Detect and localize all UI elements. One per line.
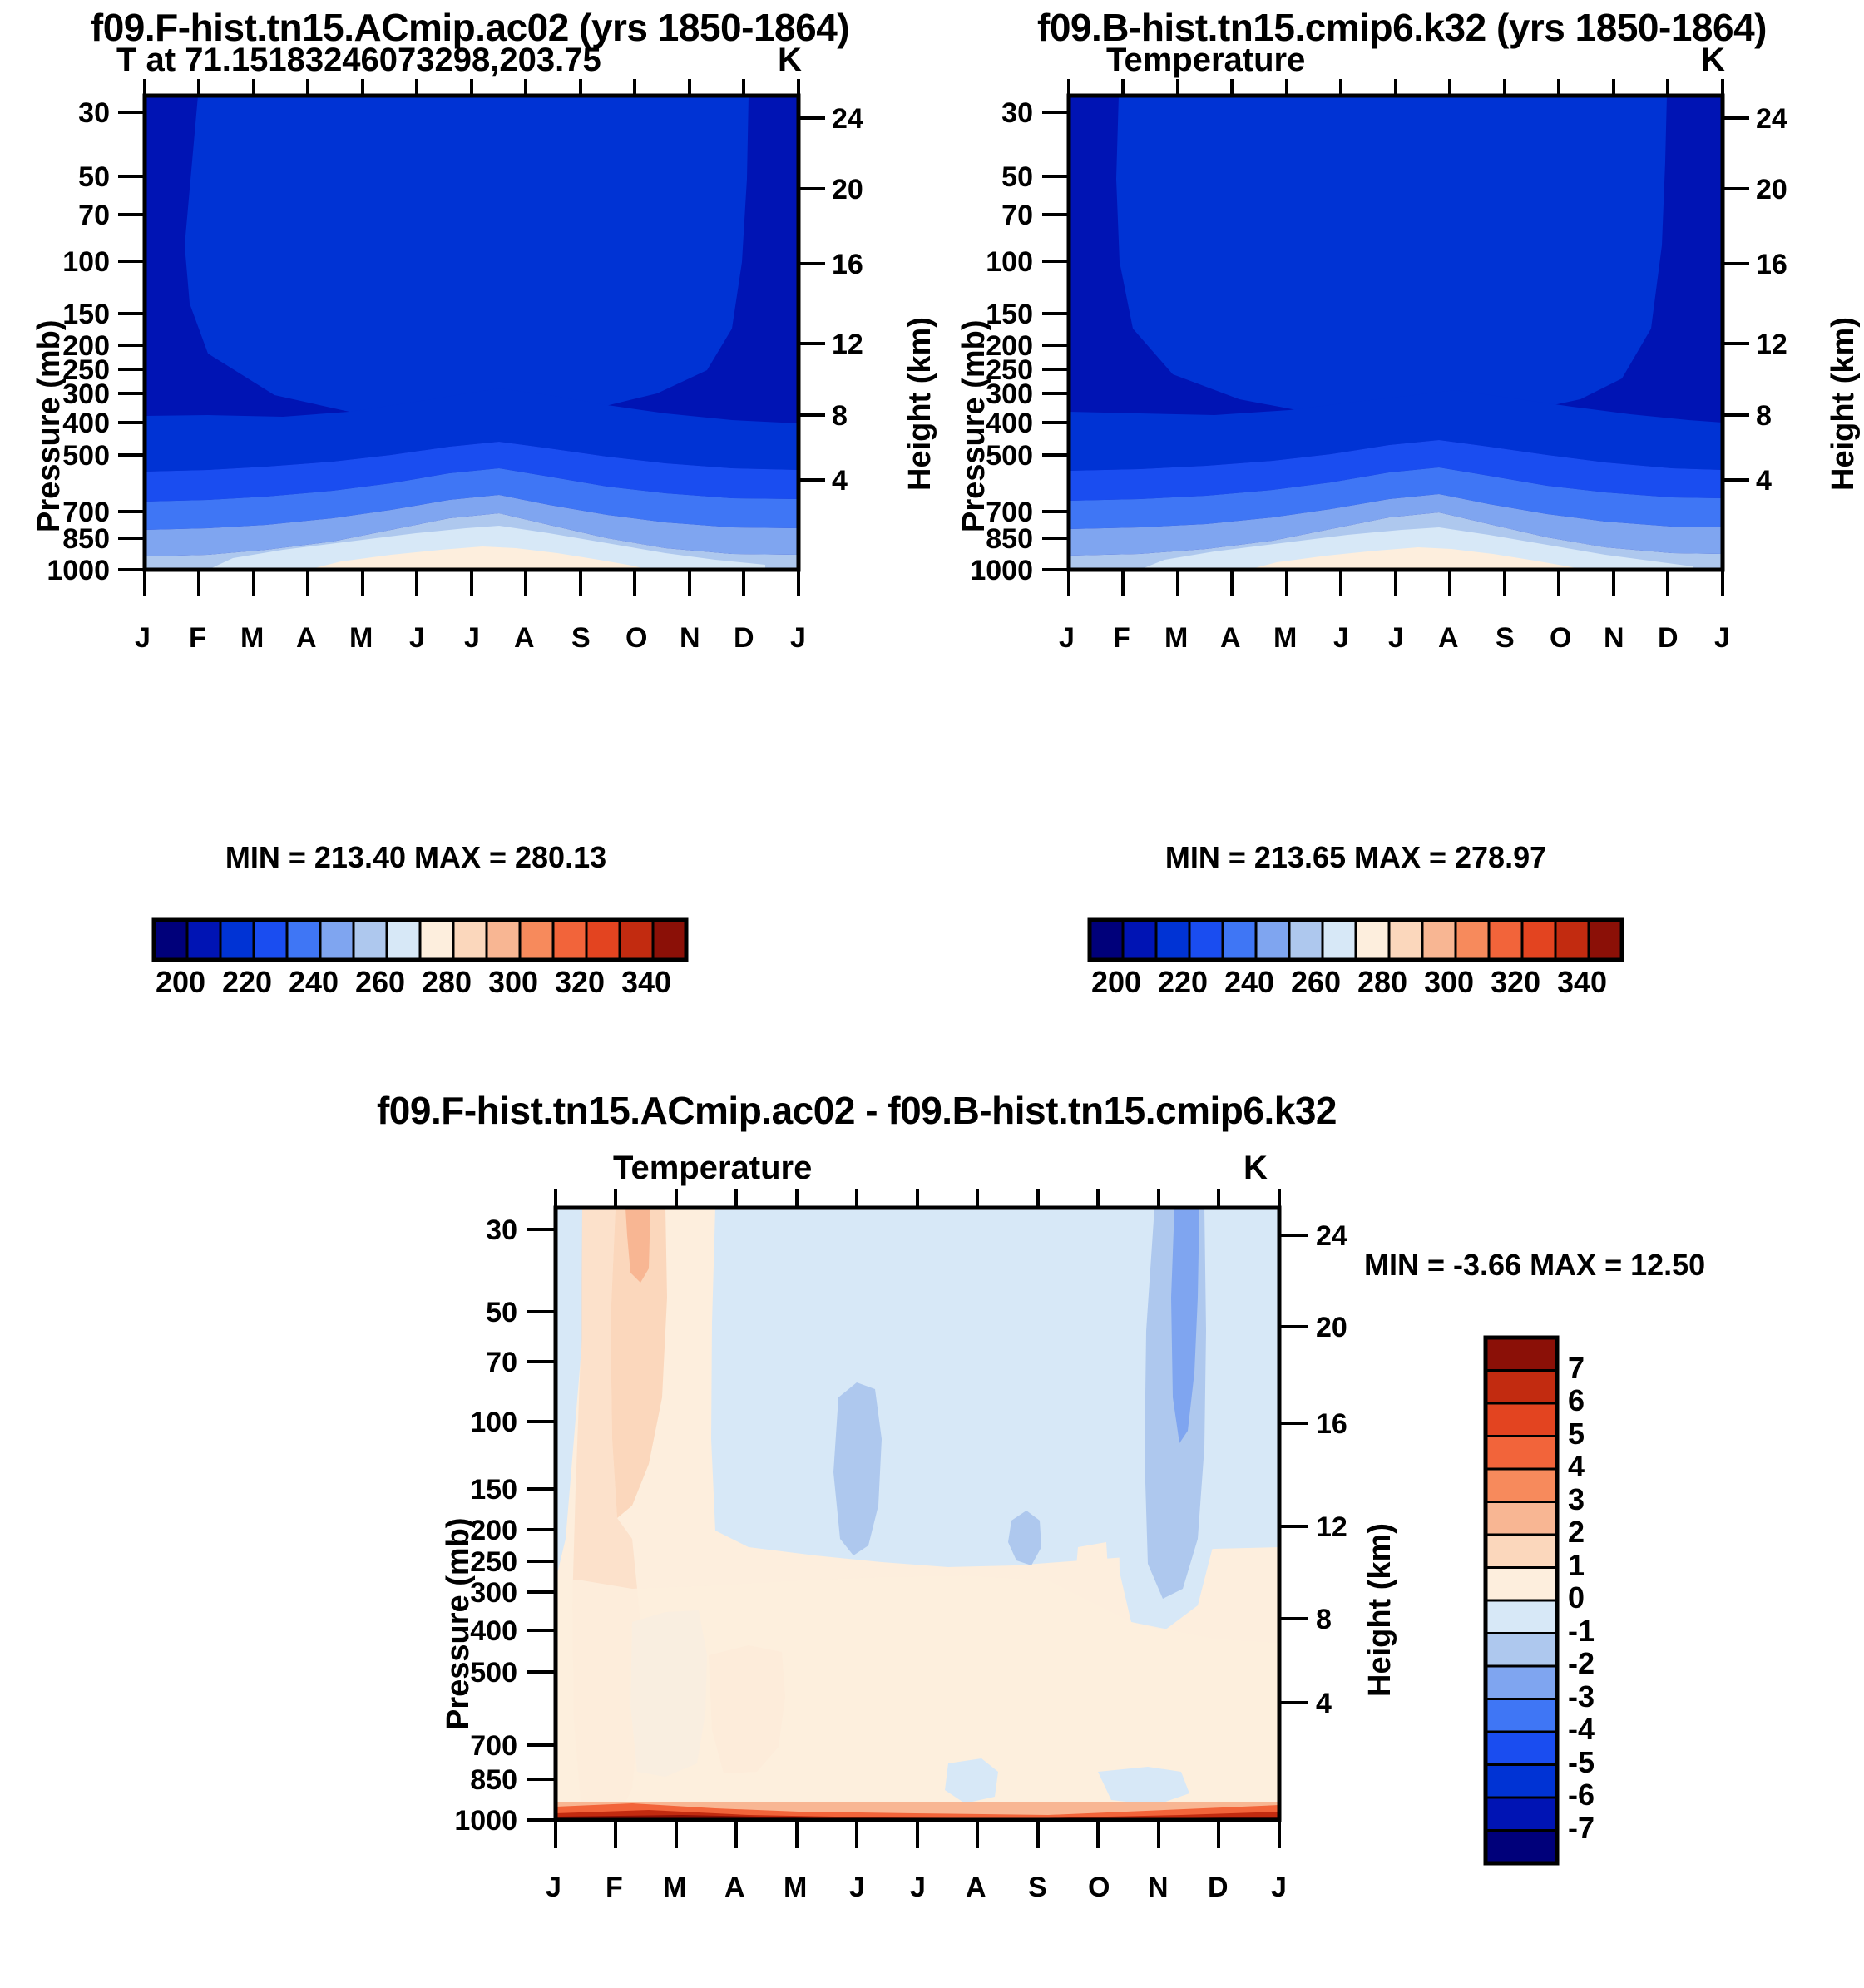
colorbar-segment [420, 920, 453, 960]
colorbar-tick-label: 280 [422, 965, 472, 1000]
y-axis-label-height-right: Height (km) [1826, 317, 1862, 491]
x-tick-label: J [1333, 622, 1349, 655]
x-tick-label: A [514, 622, 535, 655]
pressure-tick-label: 300 [470, 1577, 517, 1610]
pressure-tick-label: 50 [486, 1297, 517, 1329]
panel-left-minmax: MIN = 213.40 MAX = 280.13 [0, 840, 832, 875]
colorbar-segment [553, 920, 586, 960]
x-tick-label: J [910, 1872, 926, 1904]
x-tick-label: D [734, 622, 754, 655]
pressure-tick-label: 30 [486, 1214, 517, 1247]
pressure-tick-label: 150 [470, 1474, 517, 1506]
pressure-tick-label: 1000 [454, 1805, 517, 1837]
x-tick-label: N [1604, 622, 1624, 655]
colorbar-tick-label: -1 [1568, 1614, 1595, 1649]
panel-right-plot [940, 79, 1864, 878]
height-tick-label: 4 [1316, 1688, 1332, 1720]
colorbar-segment [653, 920, 686, 960]
colorbar-segment [1489, 920, 1522, 960]
x-tick-label: A [966, 1872, 986, 1904]
pressure-tick-label: 100 [986, 246, 1033, 279]
colorbar-segment [1486, 1831, 1557, 1864]
height-tick-label: 16 [1316, 1408, 1347, 1441]
x-tick-label: F [189, 622, 206, 655]
pressure-tick-label: 500 [62, 440, 110, 472]
colorbar-segment [354, 920, 387, 960]
pressure-tick-label: 100 [470, 1407, 517, 1439]
height-tick-label: 16 [1756, 249, 1787, 281]
colorbar-segment [1486, 1634, 1557, 1667]
x-tick-label: M [1273, 622, 1297, 655]
x-tick-label: M [1164, 622, 1188, 655]
height-tick-label: 16 [832, 249, 863, 281]
x-tick-label: A [1220, 622, 1241, 655]
pressure-tick-label: 50 [78, 161, 110, 194]
y-axis-label-pressure-right: Pressure (mb) [957, 319, 992, 532]
colorbar-segment [1323, 920, 1356, 960]
x-tick-label: J [1714, 622, 1730, 655]
colorbar-segment [1389, 920, 1422, 960]
x-tick-label: S [1028, 1872, 1047, 1904]
colorbar-tick-label: 200 [156, 965, 205, 1000]
colorbar-segment [1486, 1699, 1557, 1733]
pressure-tick-label: 30 [1001, 97, 1033, 130]
panel-left-subtitle: T at 71.15183246073298,203.75 [116, 42, 601, 79]
y-axis-label-height-diff: Height (km) [1362, 1523, 1398, 1697]
y-axis-label-height: Height (km) [902, 317, 938, 491]
panel-right-minmax: MIN = 213.65 MAX = 278.97 [940, 840, 1772, 875]
top-ticks-right [1069, 79, 1723, 96]
height-tick-label: 4 [832, 465, 848, 497]
colorbar-segment [1456, 920, 1489, 960]
height-tick-label: 8 [832, 400, 848, 433]
colorbar-segment [154, 920, 187, 960]
colorbar-segment [1589, 920, 1622, 960]
contour-fill-group-left [145, 96, 799, 570]
colorbar-tick-label: 300 [488, 965, 538, 1000]
colorbar-segment [453, 920, 487, 960]
colorbar-segment [1486, 1732, 1557, 1765]
pressure-tick-label: 150 [62, 299, 110, 331]
x-tick-label: J [790, 622, 806, 655]
colorbar-segment [1486, 1437, 1557, 1470]
panel-right-subtitle: Temperature [1106, 42, 1305, 79]
colorbar-tick-label: 6 [1568, 1383, 1585, 1418]
colorbar-tick-label: -5 [1568, 1745, 1595, 1780]
height-ticks-left [799, 118, 825, 480]
colorbar-segment [1422, 920, 1456, 960]
colorbar-tick-label: 2 [1568, 1515, 1585, 1550]
pressure-tick-label: 50 [1001, 161, 1033, 194]
colorbar-tick-label: -7 [1568, 1811, 1595, 1846]
colorbar-tick-label: -3 [1568, 1679, 1595, 1714]
x-tick-label: J [849, 1872, 865, 1904]
colorbar-tick-label: 320 [1491, 965, 1540, 1000]
top-ticks-diff [556, 1189, 1279, 1208]
x-tick-label: J [1059, 622, 1075, 655]
x-tick-label: O [1550, 622, 1571, 655]
panel-diff: f09.F-hist.tn15.ACmip.ac02 - f09.B-hist.… [0, 1073, 1864, 1941]
pressure-tick-label: 70 [1001, 200, 1033, 232]
colorbar-segment [1486, 1403, 1557, 1437]
colorbar-segment [1486, 1535, 1557, 1568]
x-tick-label: J [546, 1872, 561, 1904]
colorbar-tick-label: -4 [1568, 1712, 1595, 1747]
bottom-ticks-right [1069, 570, 1723, 596]
colorbar-segment [1486, 1469, 1557, 1502]
x-tick-label: N [680, 622, 700, 655]
pressure-tick-label: 850 [470, 1764, 517, 1797]
x-tick-label: O [625, 622, 647, 655]
height-tick-label: 20 [1756, 174, 1787, 206]
colorbar-segment [1486, 1338, 1557, 1371]
height-tick-label: 24 [832, 103, 863, 136]
colorbar-segment [387, 920, 420, 960]
x-tick-label: N [1148, 1872, 1169, 1904]
colorbar-segment [1156, 920, 1189, 960]
colorbar-segment [520, 920, 553, 960]
colorbar-segment [1486, 1765, 1557, 1798]
colorbar-tick-label: 1 [1568, 1548, 1585, 1583]
colorbar-tick-label: 320 [555, 965, 605, 1000]
colorbar-segment [187, 920, 220, 960]
x-tick-label: M [784, 1872, 807, 1904]
bottom-ticks-left [145, 570, 799, 596]
colorbar-tick-label: 0 [1568, 1580, 1585, 1615]
colorbar-tick-label: 5 [1568, 1417, 1585, 1451]
pressure-tick-label: 150 [986, 299, 1033, 331]
x-tick-label: A [724, 1872, 745, 1904]
height-tick-label: 4 [1756, 465, 1772, 497]
x-tick-label: M [663, 1872, 686, 1904]
colorbar-segment [1223, 920, 1256, 960]
height-tick-label: 20 [1316, 1312, 1347, 1344]
x-tick-label: J [1388, 622, 1404, 655]
colorbar-tick-label: 340 [1557, 965, 1607, 1000]
height-tick-label: 8 [1756, 400, 1772, 433]
height-tick-label: 8 [1316, 1604, 1332, 1636]
colorbar-tick-label: 4 [1568, 1449, 1585, 1484]
panel-diff-unit: K [1243, 1150, 1268, 1187]
panel-right-unit: K [1701, 42, 1725, 79]
pressure-tick-label: 70 [78, 200, 110, 232]
pressure-tick-label: 400 [470, 1615, 517, 1648]
colorbar-segment [254, 920, 287, 960]
height-tick-label: 24 [1756, 103, 1787, 136]
x-tick-label: M [349, 622, 373, 655]
colorbar-tick-label: 7 [1568, 1351, 1585, 1386]
x-tick-label: J [135, 622, 151, 655]
colorbar-tick-label: 260 [355, 965, 405, 1000]
colorbar-segment [1486, 1568, 1557, 1601]
pressure-tick-label: 250 [470, 1546, 517, 1579]
x-tick-label: A [1438, 622, 1459, 655]
x-tick-label: J [409, 622, 425, 655]
panel-right: f09.B-hist.tn15.cmip6.k32 (yrs 1850-1864… [940, 0, 1864, 1015]
contour-fill-group-right [1069, 96, 1723, 570]
colorbar-segment [487, 920, 520, 960]
colorbar-segment [1189, 920, 1223, 960]
pressure-tick-label: 850 [986, 523, 1033, 556]
bottom-ticks-diff [556, 1820, 1279, 1848]
colorbar-tick-label: 240 [1224, 965, 1274, 1000]
pressure-tick-label: 300 [986, 378, 1033, 411]
colorbar-tick-label: 340 [621, 965, 671, 1000]
panel-right-title: f09.B-hist.tn15.cmip6.k32 (yrs 1850-1864… [940, 5, 1864, 50]
y-axis-label-pressure-diff: Pressure (mb) [441, 1517, 477, 1730]
height-ticks-diff [1279, 1235, 1308, 1703]
panel-left: f09.F-hist.tn15.ACmip.ac02 (yrs 1850-186… [0, 0, 940, 1015]
height-tick-label: 20 [832, 174, 863, 206]
colorbar-segment [287, 920, 320, 960]
pressure-ticks-right [1042, 112, 1069, 570]
pressure-tick-label: 700 [470, 1730, 517, 1763]
colorbar-segment [1090, 920, 1123, 960]
pressure-tick-label: 850 [62, 523, 110, 556]
colorbar-segment [1486, 1371, 1557, 1404]
colorbar-tick-label: 3 [1568, 1482, 1585, 1517]
colorbar-segment [1486, 1502, 1557, 1536]
colorbar-tick-label: -2 [1568, 1646, 1595, 1681]
colorbar-tick-label: 300 [1424, 965, 1474, 1000]
x-tick-label: J [464, 622, 480, 655]
x-tick-label: S [571, 622, 591, 655]
x-tick-label: D [1658, 622, 1679, 655]
colorbar-tick-label: 220 [1158, 965, 1208, 1000]
x-tick-label: S [1496, 622, 1515, 655]
x-tick-label: J [1271, 1872, 1287, 1904]
pressure-ticks-left [118, 112, 145, 570]
pressure-tick-label: 1000 [47, 555, 110, 587]
colorbar-tick-label: 260 [1291, 965, 1341, 1000]
height-tick-label: 12 [1756, 329, 1787, 361]
x-tick-label: O [1088, 1872, 1110, 1904]
pressure-tick-label: 1000 [970, 555, 1033, 587]
panel-diff-subtitle: Temperature [613, 1150, 812, 1187]
pressure-tick-label: 100 [62, 246, 110, 279]
colorbar-segment [1356, 920, 1389, 960]
x-tick-label: M [240, 622, 264, 655]
x-tick-label: F [606, 1872, 623, 1904]
x-tick-label: F [1113, 622, 1130, 655]
pressure-tick-label: 300 [62, 378, 110, 411]
contour-fill-group-diff [556, 1208, 1279, 1820]
height-ticks-right [1723, 118, 1749, 480]
pressure-tick-label: 500 [470, 1657, 517, 1689]
colorbar-tick-label: 240 [289, 965, 339, 1000]
colorbar-tick-label: -6 [1568, 1778, 1595, 1812]
colorbar-tick-label: 220 [222, 965, 272, 1000]
panel-diff-title: f09.F-hist.tn15.ACmip.ac02 - f09.B-hist.… [0, 1088, 1713, 1133]
panel-left-unit: K [778, 42, 802, 79]
pressure-tick-label: 500 [986, 440, 1033, 472]
height-tick-label: 24 [1316, 1220, 1347, 1253]
y-axis-label-pressure: Pressure (mb) [32, 319, 67, 532]
colorbar-segment [1486, 1666, 1557, 1699]
height-tick-label: 12 [832, 329, 863, 361]
x-tick-label: A [296, 622, 317, 655]
pressure-tick-label: 400 [62, 408, 110, 440]
colorbar-segment [1123, 920, 1156, 960]
colorbar-segment [220, 920, 254, 960]
colorbar-segment [1486, 1798, 1557, 1831]
height-tick-label: 12 [1316, 1511, 1347, 1544]
colorbar-segment [1522, 920, 1555, 960]
pressure-ticks-diff [527, 1229, 556, 1820]
colorbar-tick-label: 280 [1357, 965, 1407, 1000]
pressure-tick-label: 400 [986, 408, 1033, 440]
colorbar-segment [1555, 920, 1589, 960]
pressure-tick-label: 200 [470, 1515, 517, 1547]
colorbar-tick-label: 200 [1091, 965, 1141, 1000]
colorbar-segment [1486, 1600, 1557, 1634]
colorbar-segment [586, 920, 620, 960]
pressure-tick-label: 70 [486, 1347, 517, 1379]
pressure-tick-label: 30 [78, 97, 110, 130]
colorbar-segment [1289, 920, 1323, 960]
colorbar-segment [320, 920, 354, 960]
colorbar-segment [1256, 920, 1289, 960]
x-tick-label: D [1208, 1872, 1229, 1904]
colorbar-segment [620, 920, 653, 960]
panel-left-plot [0, 79, 940, 878]
top-ticks-left [145, 79, 799, 96]
